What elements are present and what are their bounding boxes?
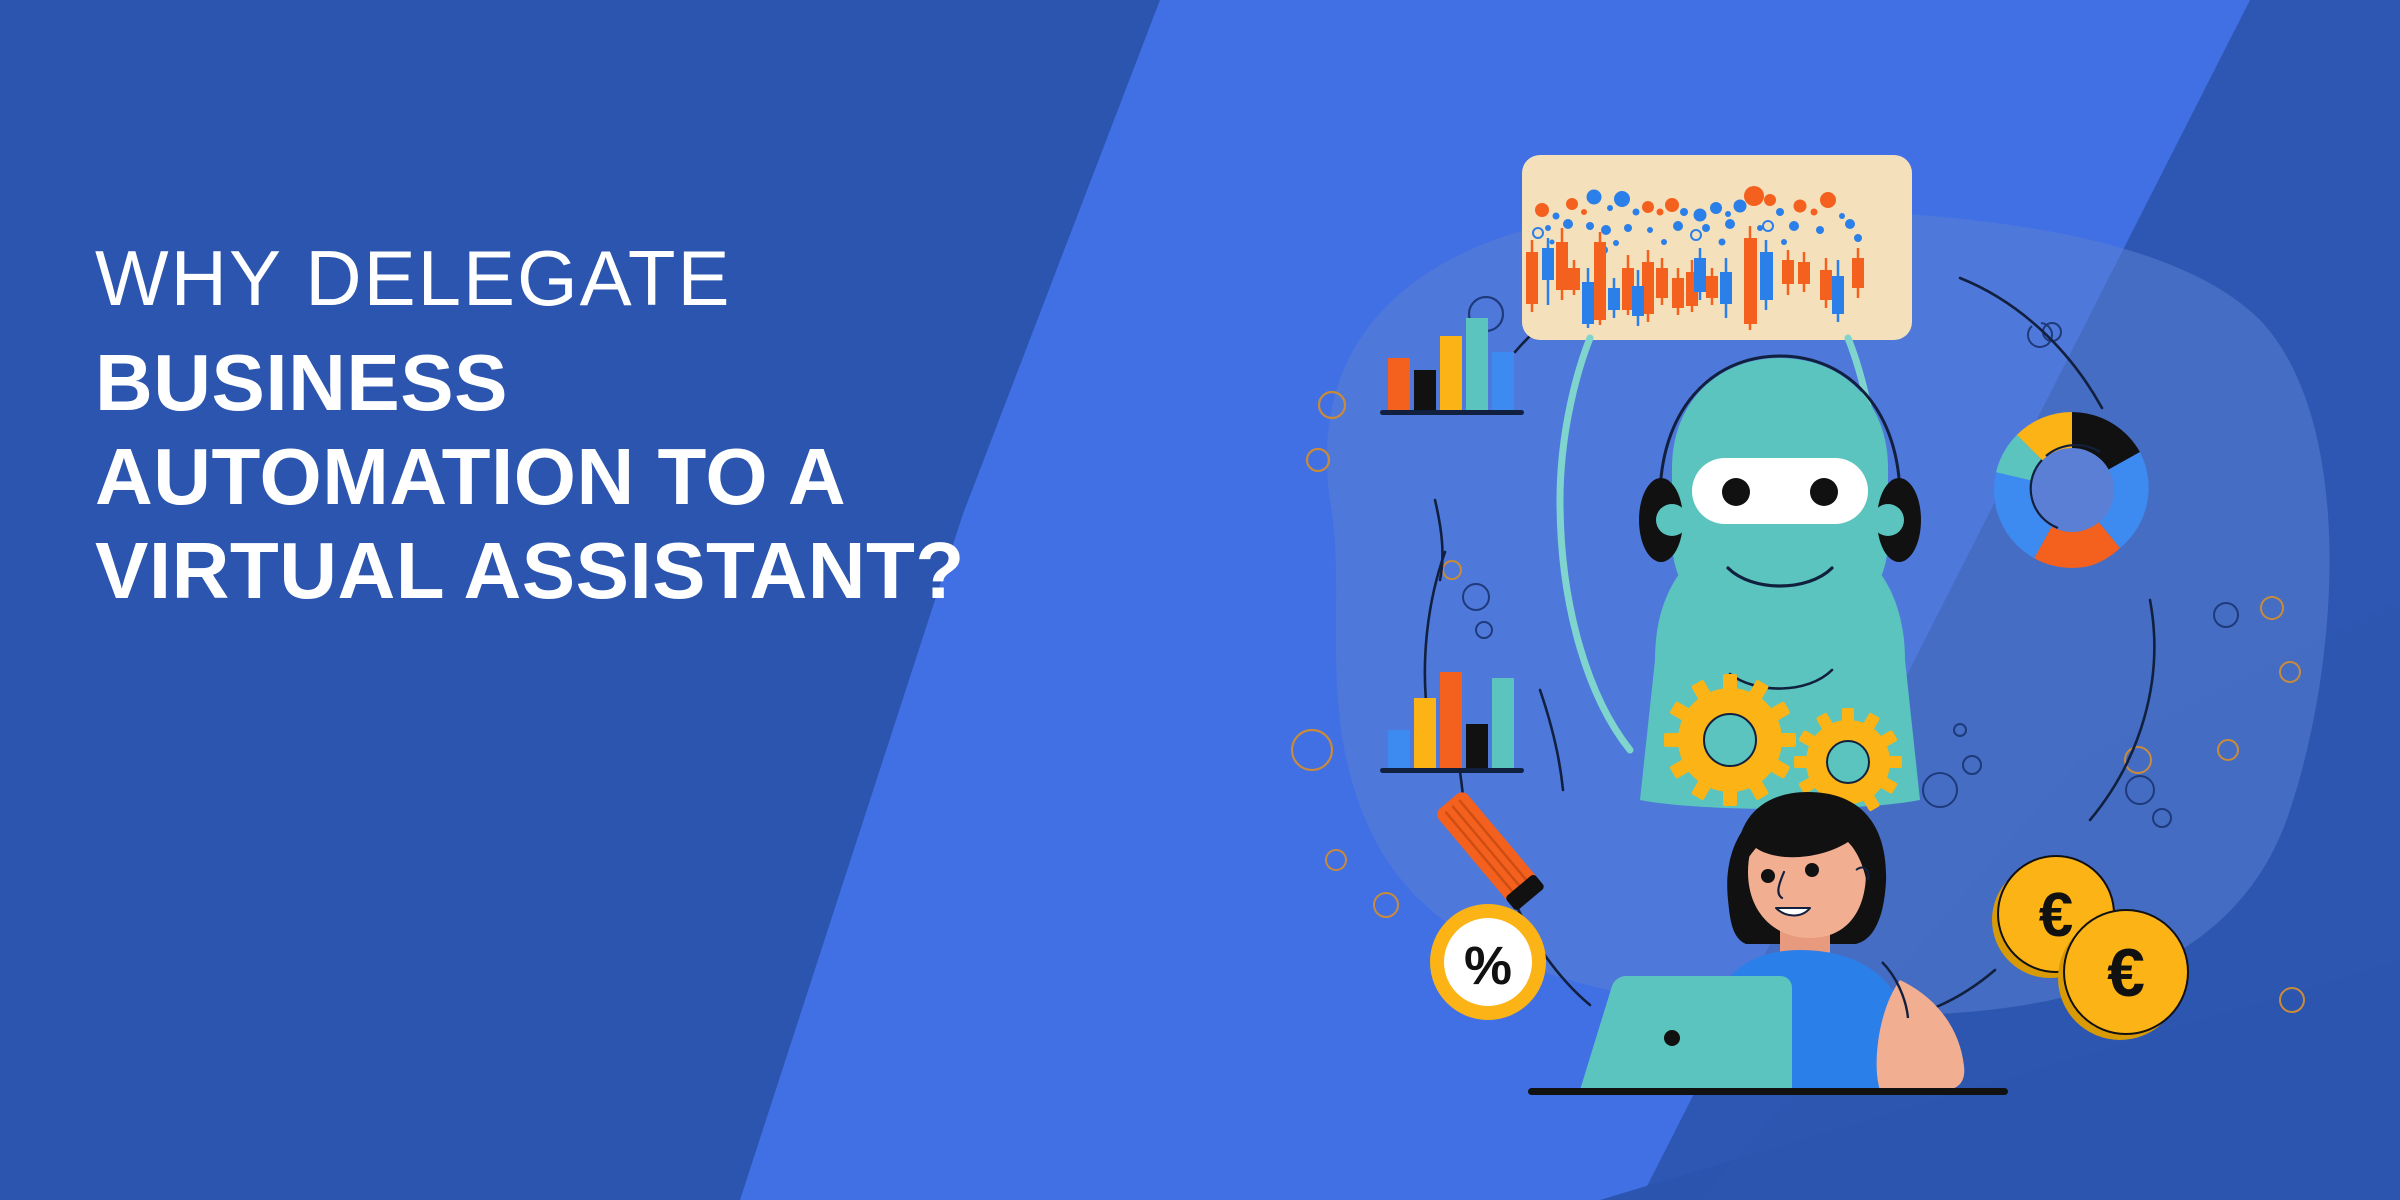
robot-eye-left — [1722, 478, 1750, 506]
page-title: WHY DELEGATE BUSINESS AUTOMATION TO A VI… — [95, 235, 1215, 617]
coin-euro-symbol-back: € — [2039, 881, 2073, 950]
person-eye-right — [1805, 863, 1819, 877]
headline-line-2: BUSINESS — [95, 336, 1215, 430]
illustration: % € € — [1260, 100, 2400, 1100]
coin-euro-symbol-front: € — [2107, 935, 2145, 1011]
laptop-camera-dot — [1664, 1030, 1680, 1046]
magnifier-percent-symbol: % — [1464, 936, 1512, 996]
laptop-screen — [1580, 976, 1792, 1090]
candlestick-chart-panel — [1522, 155, 1912, 340]
headline-line-4: VIRTUAL ASSISTANT? — [95, 524, 1215, 618]
desk-line — [1528, 1088, 2008, 1095]
robot-visor — [1692, 458, 1868, 524]
headline-line-1: WHY DELEGATE — [95, 235, 1215, 322]
banner: WHY DELEGATE BUSINESS AUTOMATION TO A VI… — [0, 0, 2400, 1200]
illustration-svg: % € € — [1260, 100, 2400, 1100]
robot-eye-right — [1810, 478, 1838, 506]
headline-line-3: AUTOMATION TO A — [95, 430, 1215, 524]
person-eye-left — [1761, 869, 1775, 883]
